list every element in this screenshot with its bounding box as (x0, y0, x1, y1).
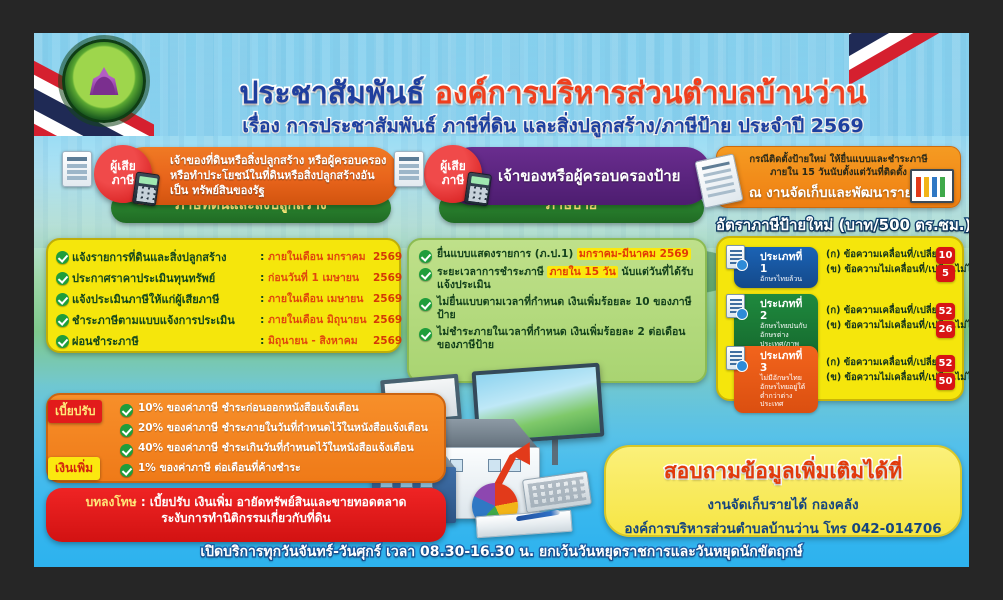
rate-category-3-name: ประเภทที่ 3 (760, 350, 813, 374)
schedule-value: ก่อนวันที่ 1 เมษายน (268, 269, 373, 286)
sign-detail-pre: ระยะเวลาการชำระภาษี (437, 266, 544, 278)
penalty-fine-text: 20% ของค่าภาษี ชำระภายในวันที่กำหนดไว้ใน… (138, 422, 428, 435)
rate-table-title: อัตราภาษีป้ายใหม่ (บาท/500 ตร.ซม.) (716, 213, 961, 237)
organization-logo (62, 39, 146, 123)
punishment-line1: : เบี้ยปรับ เงินเพิ่ม อายัดทรัพย์สินและข… (141, 495, 407, 509)
rate-value: 10 (936, 247, 955, 264)
schedule-value: มิถุนายน - สิงหาคม (268, 332, 373, 349)
new-sign-line1: กรณีติดตั้งป้ายใหม่ ให้ยื่นแบบและชำระภาษ… (725, 153, 952, 166)
penalty-row: 1% ของค่าภาษี ต่อเดือนที่ค้างชำระ (120, 462, 434, 477)
sign-detail-row: ยื่นแบบแสดงรายการ (ภ.ป.1) มกราคม-มีนาคม … (419, 248, 695, 263)
land-tax-pill-group: ภาษีที่ดินและสิ่งปลูกสร้าง เจ้าของที่ดิน… (56, 143, 401, 228)
title-orange-part: องค์การบริหารส่วนตำบลบ้านว่าน (435, 76, 867, 111)
monitor-chart-icon (910, 169, 954, 203)
schedule-label: ชำระภาษีตามแบบแจ้งการประเมิน (72, 311, 260, 329)
sign-detail-row: ไม่ชำระภายในเวลาที่กำหนด เงินเพิ่มร้อยละ… (419, 326, 695, 353)
schedule-year: 2569 (373, 272, 409, 284)
schedule-label: แจ้งรายการที่ดินและสิ่งปลูกสร้าง (72, 248, 260, 266)
sign-detail-highlight: มกราคม-มีนาคม 2569 (577, 248, 691, 260)
sign-detail-pre: ไม่ชำระภายในเวลาที่กำหนด เงินเพิ่มร้อยละ… (437, 326, 695, 353)
schedule-row: ชำระภาษีตามแบบแจ้งการประเมิน : ภายในเดือ… (56, 309, 391, 330)
sign-detail-pre: ยื่นแบบแสดงรายการ (ภ.ป.1) (437, 248, 573, 260)
schedule-year: 2569 (373, 314, 409, 326)
contact-line1: งานจัดเก็บรายได้ กองคลัง (606, 493, 960, 515)
check-icon (419, 298, 432, 311)
penalty-row: 40% ของค่าภาษี ชำระเกินวันที่กำหนดไว้ในห… (120, 442, 434, 457)
land-badge-line2: ภาษี (112, 174, 135, 188)
rate-value: 26 (936, 321, 955, 338)
punishment-bar: บทลงโทษ : เบี้ยปรับ เงินเพิ่ม อายัดทรัพย… (46, 488, 446, 542)
surcharge-tag: เงินเพิ่ม (48, 457, 100, 480)
punishment-label: บทลงโทษ (86, 495, 137, 509)
rate-value: 52 (936, 303, 955, 320)
check-icon (419, 328, 432, 341)
penalty-surcharge-text: 1% ของค่าภาษี ต่อเดือนที่ค้างชำระ (138, 462, 301, 475)
check-icon (56, 314, 69, 327)
schedule-row: แจ้งประเมินภาษีให้แก่ผู้เสียภาษี : ภายใน… (56, 288, 391, 309)
schedule-label: แจ้งประเมินภาษีให้แก่ผู้เสียภาษี (72, 290, 260, 308)
schedule-row: ผ่อนชำระภาษี : มิถุนายน - สิงหาคม 2569 (56, 330, 391, 351)
check-icon (120, 424, 133, 437)
penalty-panel: 10% ของค่าภาษี ชำระก่อนออกหนังสือแจ้งเตื… (46, 393, 446, 483)
contact-line2: องค์การบริหารส่วนตำบลบ้านว่าน โทร 042-01… (606, 517, 960, 539)
sign-detail-highlight: ภายใน 15 วัน (547, 266, 617, 278)
calculator-icon-land (132, 171, 160, 206)
schedule-year: 2569 (373, 293, 409, 305)
new-sign-notice-box: กรณีติดตั้งป้ายใหม่ ให้ยื่นแบบและชำระภาษ… (716, 146, 961, 208)
rate-table-card: ประเภทที่ 1 อักษรไทยล้วน (ก) ข้อความเคลื… (716, 236, 964, 401)
penalty-row: 10% ของค่าภาษี ชำระก่อนออกหนังสือแจ้งเตื… (120, 402, 434, 417)
check-icon (56, 293, 69, 306)
poster-canvas: ประชาสัมพันธ์ องค์การบริหารส่วนตำบลบ้านว… (34, 33, 969, 567)
rate-value: 52 (936, 355, 955, 372)
check-icon (56, 251, 69, 264)
fine-tag: เบี้ยปรับ (48, 400, 102, 423)
land-taxpayer-text: เจ้าของที่ดินหรือสิ่งปลูกสร้าง หรือผู้คร… (170, 154, 386, 197)
check-icon (120, 464, 133, 477)
sign-detail-row: ระยะเวลาการชำระภาษี ภายใน 15 วัน นับแต่ว… (419, 266, 695, 293)
check-icon (120, 444, 133, 457)
land-badge-line1: ผู้เสีย (110, 160, 136, 174)
land-taxpayer-pill: เจ้าของที่ดินหรือสิ่งปลูกสร้าง หรือผู้คร… (118, 147, 398, 205)
contact-box: สอบถามข้อมูลเพิ่มเติมได้ที่ งานจัดเก็บรา… (604, 445, 962, 537)
sign-badge-line2: ภาษี (442, 174, 465, 188)
schedule-row: ประกาศราคาประเมินทุนทรัพย์ : ก่อนวันที่ … (56, 267, 391, 288)
clipboard-icon (726, 346, 745, 370)
calculator-icon-sign (464, 171, 492, 206)
clipboard-icon (726, 294, 745, 318)
schedule-value: ภายในเดือน มิถุนายน (268, 311, 373, 328)
check-icon (419, 268, 432, 281)
schedule-row: แจ้งรายการที่ดินและสิ่งปลูกสร้าง : ภายใน… (56, 246, 391, 267)
document-icon-sign (394, 151, 424, 187)
sign-detail-row: ไม่ยื่นแบบตามเวลาที่กำหนด เงินเพิ่มร้อยล… (419, 296, 695, 323)
schedule-year: 2569 (373, 335, 409, 347)
sign-detail-panel: ยื่นแบบแสดงรายการ (ภ.ป.1) มกราคม-มีนาคม … (407, 238, 707, 383)
penalty-row: 20% ของค่าภาษี ชำระภายในวันที่กำหนดไว้ใน… (120, 422, 434, 437)
contact-heading: สอบถามข้อมูลเพิ่มเติมได้ที่ (606, 455, 960, 488)
schedule-label: ประกาศราคาประเมินทุนทรัพย์ (72, 269, 260, 287)
check-icon (56, 272, 69, 285)
schedule-value: ภายในเดือน เมษายน (268, 290, 373, 307)
rate-category-1-name: ประเภทที่ 1 (760, 251, 813, 275)
sign-taxpayer-text: เจ้าของหรือผู้ครอบครองป้าย (498, 166, 680, 187)
rate-category-3-desc: ไม่มีอักษรไทย อักษรไทยอยู่ใต้ ต่ำกว่าต่า… (760, 374, 813, 409)
punishment-line2: ระงับการทำนิติกรรมเกี่ยวกับที่ดิน (60, 510, 432, 526)
clipboard-icon (726, 245, 745, 269)
check-icon (56, 335, 69, 348)
penalty-fine-text: 40% ของค่าภาษี ชำระเกินวันที่กำหนดไว้ในห… (138, 442, 414, 455)
sign-badge-line1: ผู้เสีย (440, 160, 466, 174)
rate-value: 50 (936, 373, 955, 390)
check-icon (419, 250, 432, 263)
rate-category-1-desc: อักษรไทยล้วน (760, 275, 813, 284)
schedule-value: ภายในเดือน มกราคม (268, 248, 373, 265)
rate-category-3: ประเภทที่ 3 ไม่มีอักษรไทย อักษรไทยอยู่ใต… (734, 346, 818, 413)
page-title: ประชาสัมพันธ์ องค์การบริหารส่วนตำบลบ้านว… (158, 79, 948, 109)
penalty-fine-text: 10% ของค่าภาษี ชำระก่อนออกหนังสือแจ้งเตื… (138, 402, 359, 415)
page-subtitle: เรื่อง การประชาสัมพันธ์ ภาษีที่ดิน และสิ… (158, 111, 948, 141)
sign-tax-pill-group: ภาษีป้าย เจ้าของหรือผู้ครอบครองป้าย ผู้เ… (394, 143, 724, 228)
rate-category-2-name: ประเภทที่ 2 (760, 298, 813, 322)
rate-value: 5 (936, 265, 955, 282)
header-band: ประชาสัมพันธ์ องค์การบริหารส่วนตำบลบ้านว… (34, 33, 969, 136)
service-hours-bar: เปิดบริการทุกวันจันทร์-วันศุกร์ เวลา 08.… (34, 541, 969, 563)
land-schedule-panel: แจ้งรายการที่ดินและสิ่งปลูกสร้าง : ภายใน… (46, 238, 401, 353)
schedule-year: 2569 (373, 251, 409, 263)
title-blue-part: ประชาสัมพันธ์ (239, 76, 424, 111)
sign-detail-pre: ไม่ยื่นแบบตามเวลาที่กำหนด เงินเพิ่มร้อยล… (437, 296, 695, 323)
house-window (488, 459, 501, 472)
schedule-label: ผ่อนชำระภาษี (72, 332, 260, 350)
check-icon (120, 404, 133, 417)
document-icon-land (62, 151, 92, 187)
